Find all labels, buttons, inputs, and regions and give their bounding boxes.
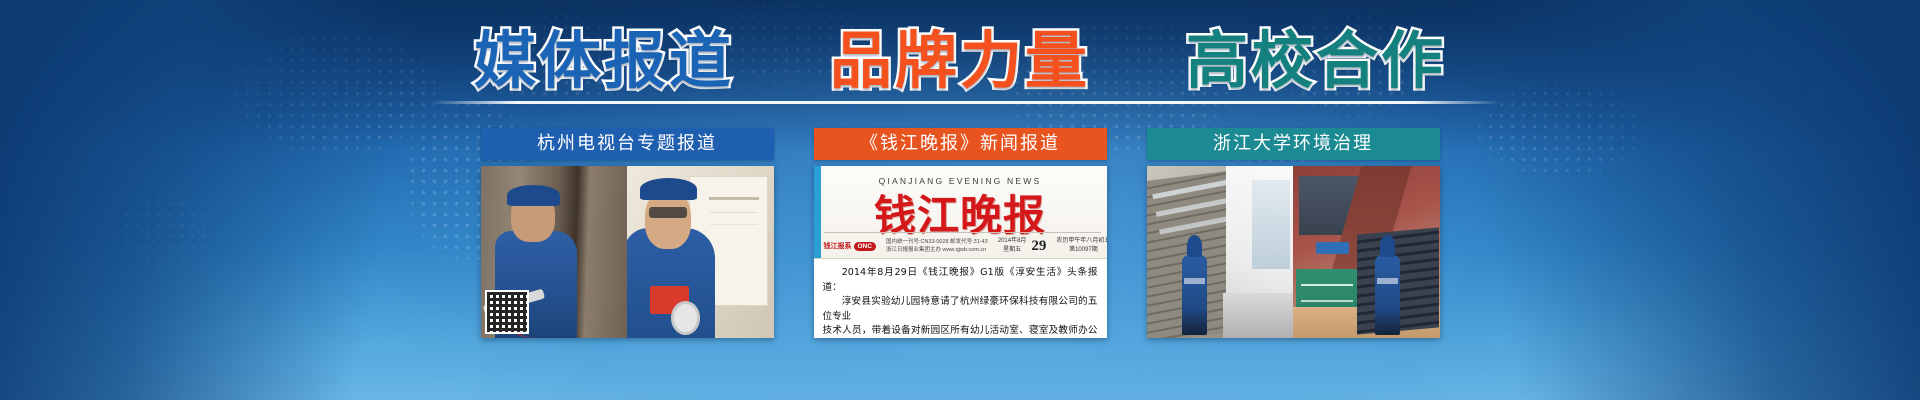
newspaper-publisher: 浙江日报报业集团主办 www.qjwb.com.cn: [886, 246, 988, 254]
newspaper-day-number: 29: [1031, 238, 1046, 255]
newspaper-meta-row: 钱江报系 ONC 国内统一刊号:CN33-0028 邮发代号:31-43 浙江日…: [824, 235, 1101, 257]
card-header-hangzhou-tv: 杭州电视台专题报道: [481, 128, 774, 160]
card-content-qianjiang-evening-news: QIANJIANG EVENING NEWS 钱江晚报 钱江报系 ONC 国内统…: [814, 166, 1107, 338]
newspaper-side-bar: [814, 166, 821, 258]
worker-figure: [1375, 255, 1400, 334]
newspaper-brand-label: 钱江报系: [824, 241, 852, 251]
card-image-zhejiang-university: [1147, 166, 1440, 338]
newspaper-clipping: QIANJIANG EVENING NEWS 钱江晚报 钱江报系 ONC 国内统…: [814, 166, 1107, 338]
worker-figure: [1182, 255, 1207, 334]
card-row: 杭州电视台专题报道: [0, 128, 1920, 380]
newspaper-license-block: 国内统一刊号:CN33-0028 邮发代号:31-43 浙江日报报业集团主办 w…: [886, 238, 988, 255]
headline-media-reports: 媒体报道: [474, 30, 734, 92]
card-image-hangzhou-tv: [481, 166, 774, 338]
headline-university-cooperation: 高校合作: [1186, 30, 1446, 92]
article-line-2: 淳安县实验幼儿园特意请了杭州绿豪环保科技有限公司的五位专业: [823, 295, 1098, 324]
headline-brand-power: 品牌力量: [830, 30, 1090, 92]
newspaper-lunar-date: 农历甲午年八月初五: [1056, 237, 1106, 246]
headline-divider: [430, 101, 1500, 104]
promo-banner: 媒体报道 品牌力量 高校合作 杭州电视台专题报道: [0, 0, 1920, 400]
headline-row: 媒体报道 品牌力量 高校合作: [0, 22, 1920, 100]
article-text: 2014年8月29日《钱江晚报》G1版《淳安生活》头条报道： 淳安县实验幼儿园特…: [814, 259, 1107, 338]
card-hangzhou-tv[interactable]: 杭州电视台专题报道: [481, 128, 774, 338]
photo-gymnasium-treatment: [1293, 166, 1440, 338]
newspaper-brand-mark: 钱江报系 ONC: [824, 241, 876, 251]
article-line-3: 技术人员，带着设备对新园区所有幼儿活动室、寝室及教师办公室进行: [823, 324, 1098, 338]
article-line-1: 2014年8月29日《钱江晚报》G1版《淳安生活》头条报道：: [823, 266, 1098, 295]
newspaper-weekday: 星期五: [998, 246, 1027, 255]
card-header-zhejiang-university: 浙江大学环境治理: [1147, 128, 1440, 160]
newspaper-rule: [824, 232, 1101, 233]
newspaper-license: 国内统一刊号:CN33-0028 邮发代号:31-43: [886, 238, 988, 246]
photo-stairwell-treatment: [1147, 166, 1294, 338]
newspaper-issue-number: 第10097期: [1056, 246, 1106, 255]
newspaper-date: 2014年8月: [998, 237, 1027, 246]
newspaper-lunar-block: 农历甲午年八月初五 第10097期: [1056, 237, 1106, 255]
newspaper-date-block: 2014年8月 星期五: [998, 237, 1027, 255]
newspaper-onc-pill: ONC: [854, 242, 876, 251]
qr-code-icon: [485, 290, 529, 334]
photo-interview: [627, 166, 774, 338]
card-header-qianjiang-evening-news: 《钱江晚报》新闻报道: [814, 128, 1107, 160]
card-zhejiang-university[interactable]: 浙江大学环境治理: [1147, 128, 1440, 338]
card-qianjiang-evening-news[interactable]: 《钱江晚报》新闻报道 QIANJIANG EVENING NEWS 钱江晚报 钱…: [814, 128, 1107, 338]
newspaper-masthead-area: QIANJIANG EVENING NEWS 钱江晚报 钱江报系 ONC 国内统…: [814, 166, 1107, 259]
newspaper-masthead: 钱江晚报: [874, 182, 1046, 243]
